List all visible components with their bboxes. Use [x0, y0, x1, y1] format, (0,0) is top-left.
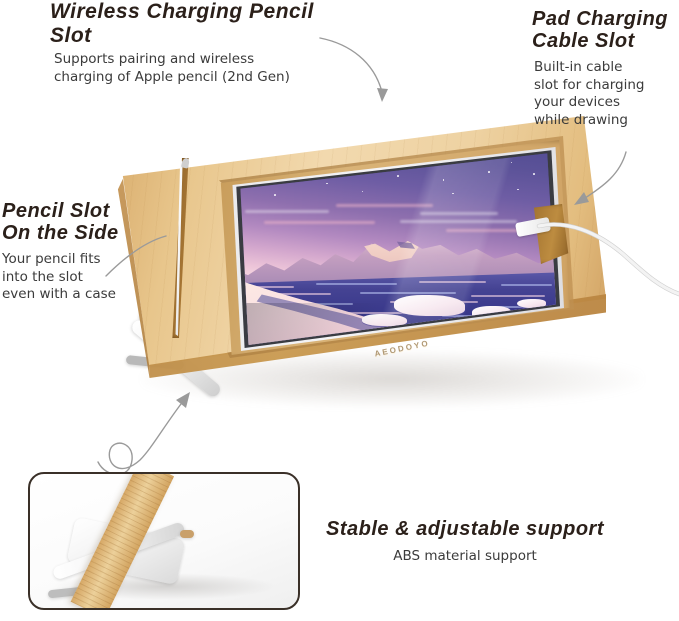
callout-stable-adjustable-support: Stable & adjustable support ABS material…: [320, 518, 610, 566]
charging-cable: [537, 208, 679, 338]
callout-wireless-charging-pencil-slot: Wireless Charging Pencil Slot Supports p…: [50, 0, 350, 87]
callout-headline: Pad Charging Cable Slot: [532, 8, 677, 53]
apple-pencil-tip: [181, 157, 190, 168]
callout-body: Built-in cable slot for charging your de…: [534, 59, 677, 130]
callout-body: ABS material support: [320, 548, 610, 566]
kickstand-detail-photo: [28, 472, 300, 610]
callout-headline: Pencil Slot On the Side: [2, 200, 167, 245]
callout-headline: Wireless Charging Pencil Slot: [50, 0, 350, 47]
inset-kickstand-hinge: [180, 530, 194, 538]
callout-pad-charging-cable-slot: Pad Charging Cable Slot Built-in cable s…: [532, 8, 677, 130]
callout-headline: Stable & adjustable support: [320, 518, 610, 540]
infographic-stage: AEODOYO Wireless Charging Pencil Slot Su…: [0, 0, 679, 621]
callout-body: Your pencil fits into the slot even with…: [2, 251, 167, 304]
callout-body: Supports pairing and wireless charging o…: [54, 51, 350, 87]
callout-pencil-slot-on-the-side: Pencil Slot On the Side Your pencil fits…: [2, 200, 167, 304]
